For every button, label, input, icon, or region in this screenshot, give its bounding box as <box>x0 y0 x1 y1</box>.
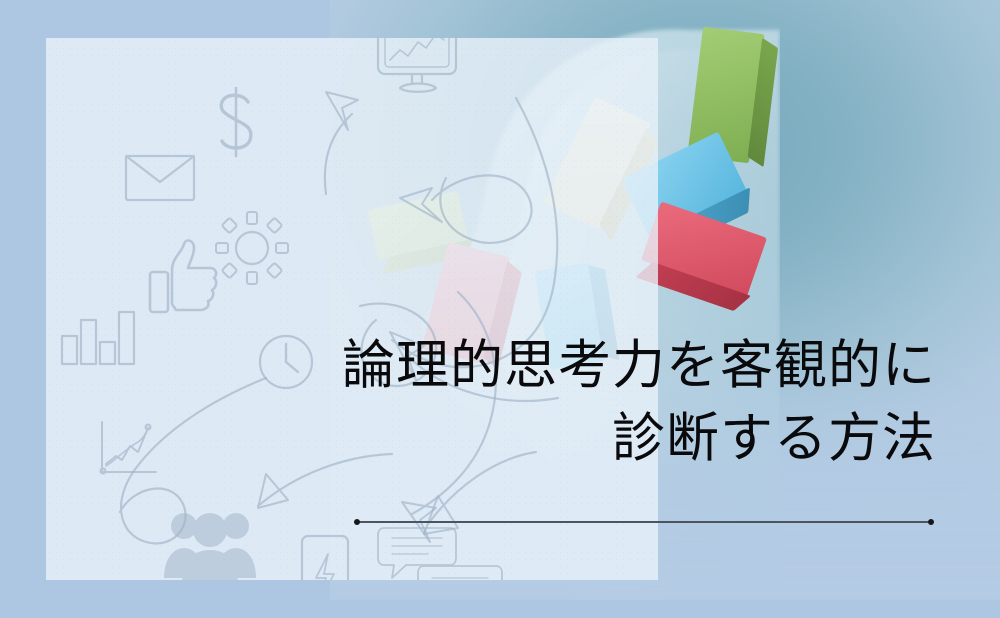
divider-dot-left <box>354 519 360 525</box>
banner-image: 論理的思考力を客観的に 診断する方法 <box>0 0 1000 618</box>
panel-texture <box>46 38 658 580</box>
overlay-panel <box>46 38 658 580</box>
title-divider <box>355 519 933 525</box>
divider-line <box>355 521 933 523</box>
title-line-2: 診断する方法 <box>0 403 936 476</box>
title-line-1: 論理的思考力を客観的に <box>0 330 936 403</box>
page-title: 論理的思考力を客観的に 診断する方法 <box>0 330 936 476</box>
divider-dot-right <box>928 519 934 525</box>
